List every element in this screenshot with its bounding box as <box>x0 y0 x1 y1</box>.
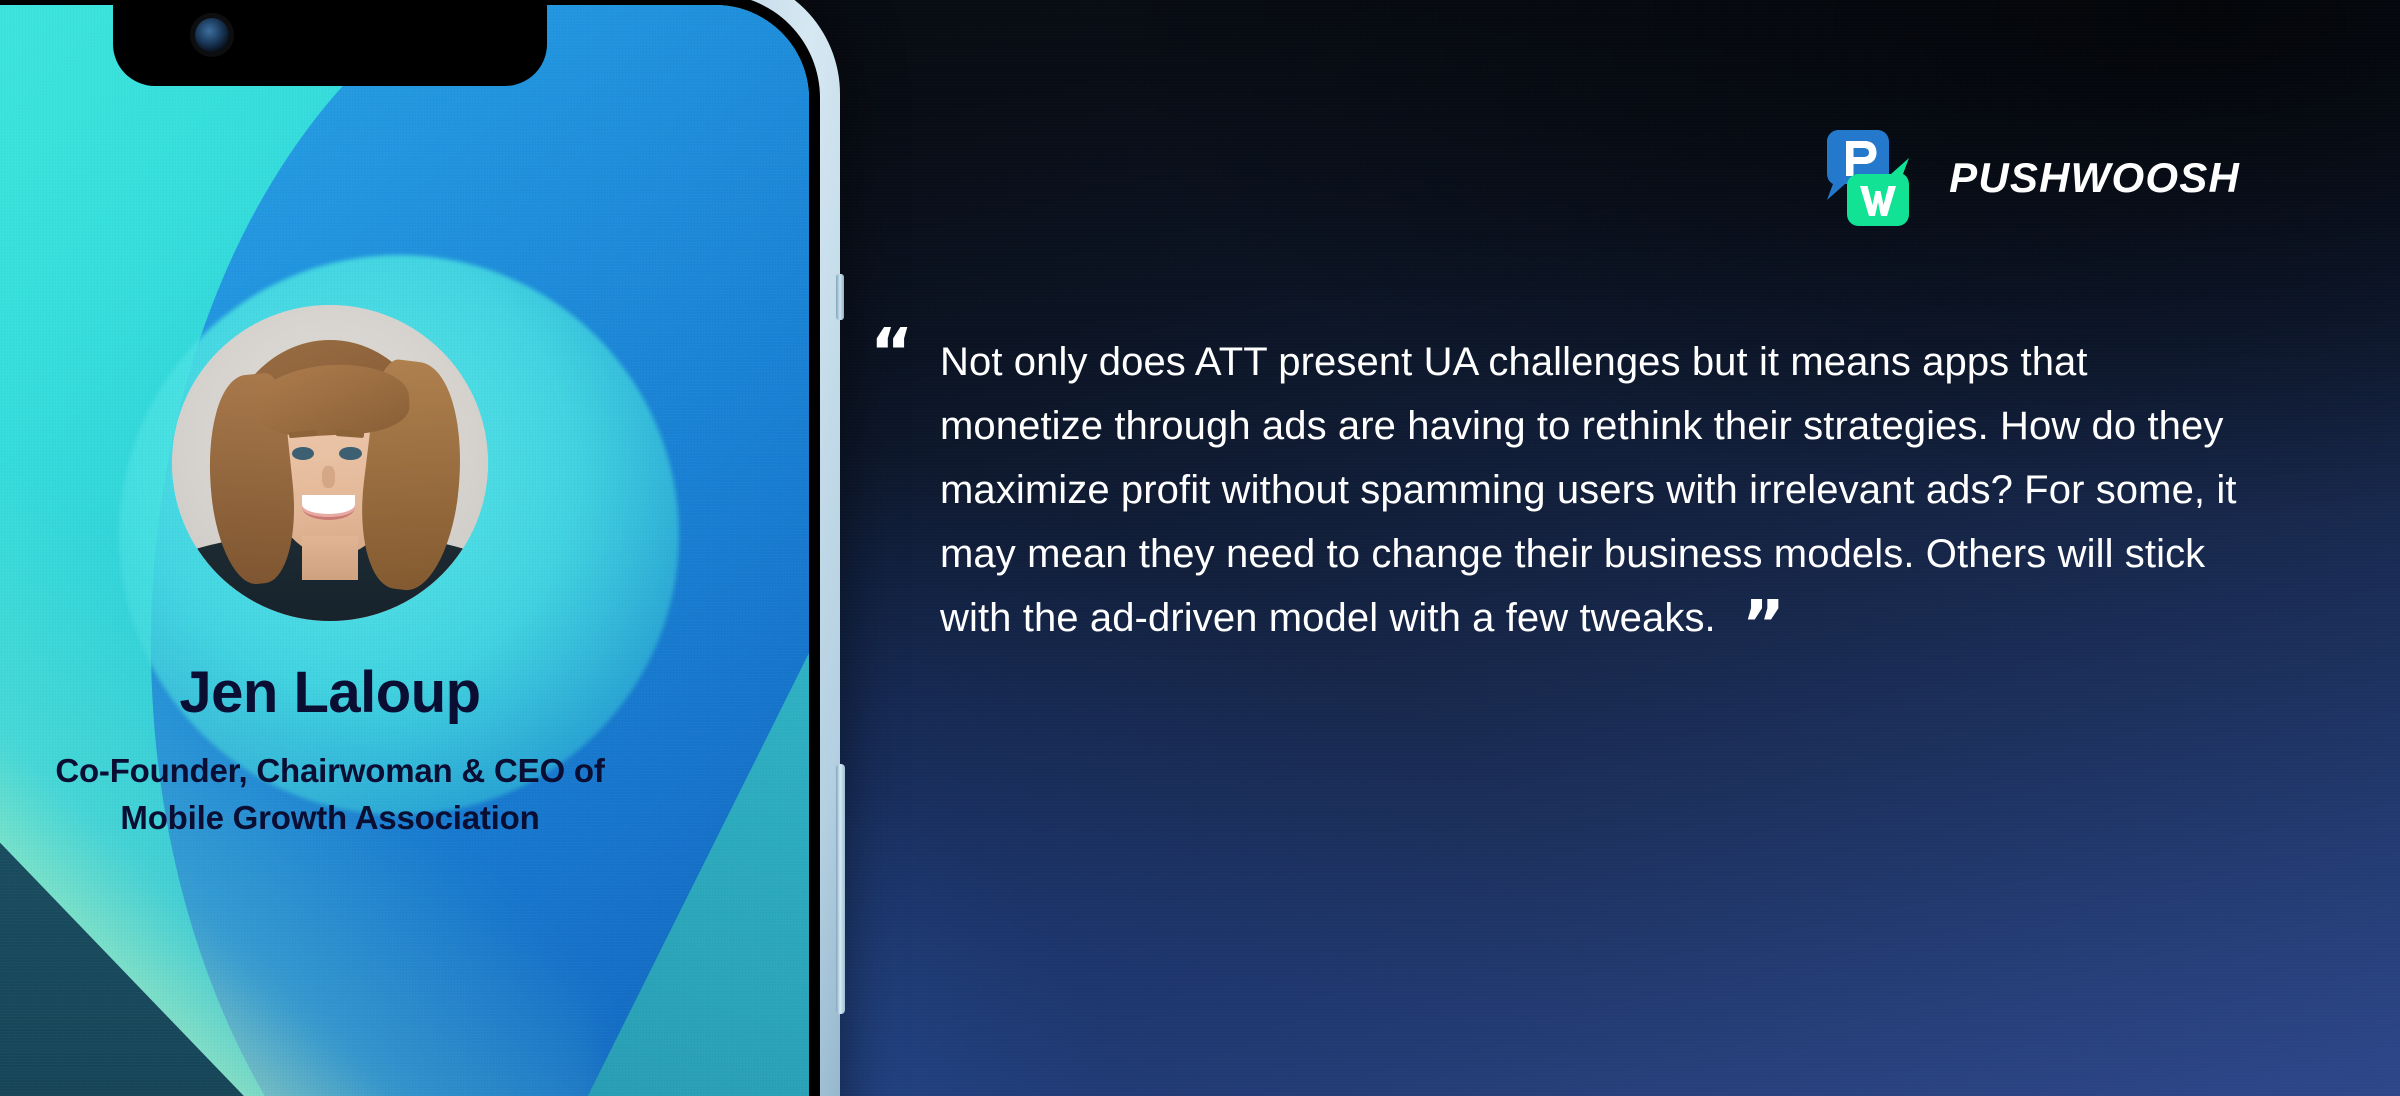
phone-volume-button[interactable] <box>836 764 845 1014</box>
quote-block: “ Not only does ATT present UA challenge… <box>940 330 2240 650</box>
person-title: Co-Founder, Chairwoman & CEO of Mobile G… <box>50 748 610 842</box>
phone-mockup: Jen Laloup Co-Founder, Chairwoman & CEO … <box>0 0 840 1096</box>
pushwoosh-wordmark: PUSHWOOSH <box>1949 154 2240 202</box>
quote-open-mark-icon: “ <box>870 320 913 386</box>
phone-notch <box>113 0 547 86</box>
person-name: Jen Laloup <box>179 663 480 724</box>
quote-text-container: Not only does ATT present UA challenges … <box>940 330 2240 650</box>
testimonial-slide: Jen Laloup Co-Founder, Chairwoman & CEO … <box>0 0 2400 1096</box>
logo-bubbles-svg <box>1815 128 1919 228</box>
avatar-smile <box>302 495 356 520</box>
quote-text: Not only does ATT present UA challenges … <box>940 340 2237 640</box>
avatar-neck <box>302 536 359 580</box>
pushwoosh-logo-mark-icon <box>1815 128 1919 228</box>
phone-front-camera-icon <box>195 18 229 52</box>
screen-content: Jen Laloup Co-Founder, Chairwoman & CEO … <box>0 5 809 1096</box>
avatar-nose <box>322 466 335 488</box>
avatar <box>172 305 488 621</box>
phone-screen: Jen Laloup Co-Founder, Chairwoman & CEO … <box>0 5 809 1096</box>
pushwoosh-logo[interactable]: PUSHWOOSH <box>1815 128 2240 228</box>
phone-mute-switch[interactable] <box>836 274 844 320</box>
